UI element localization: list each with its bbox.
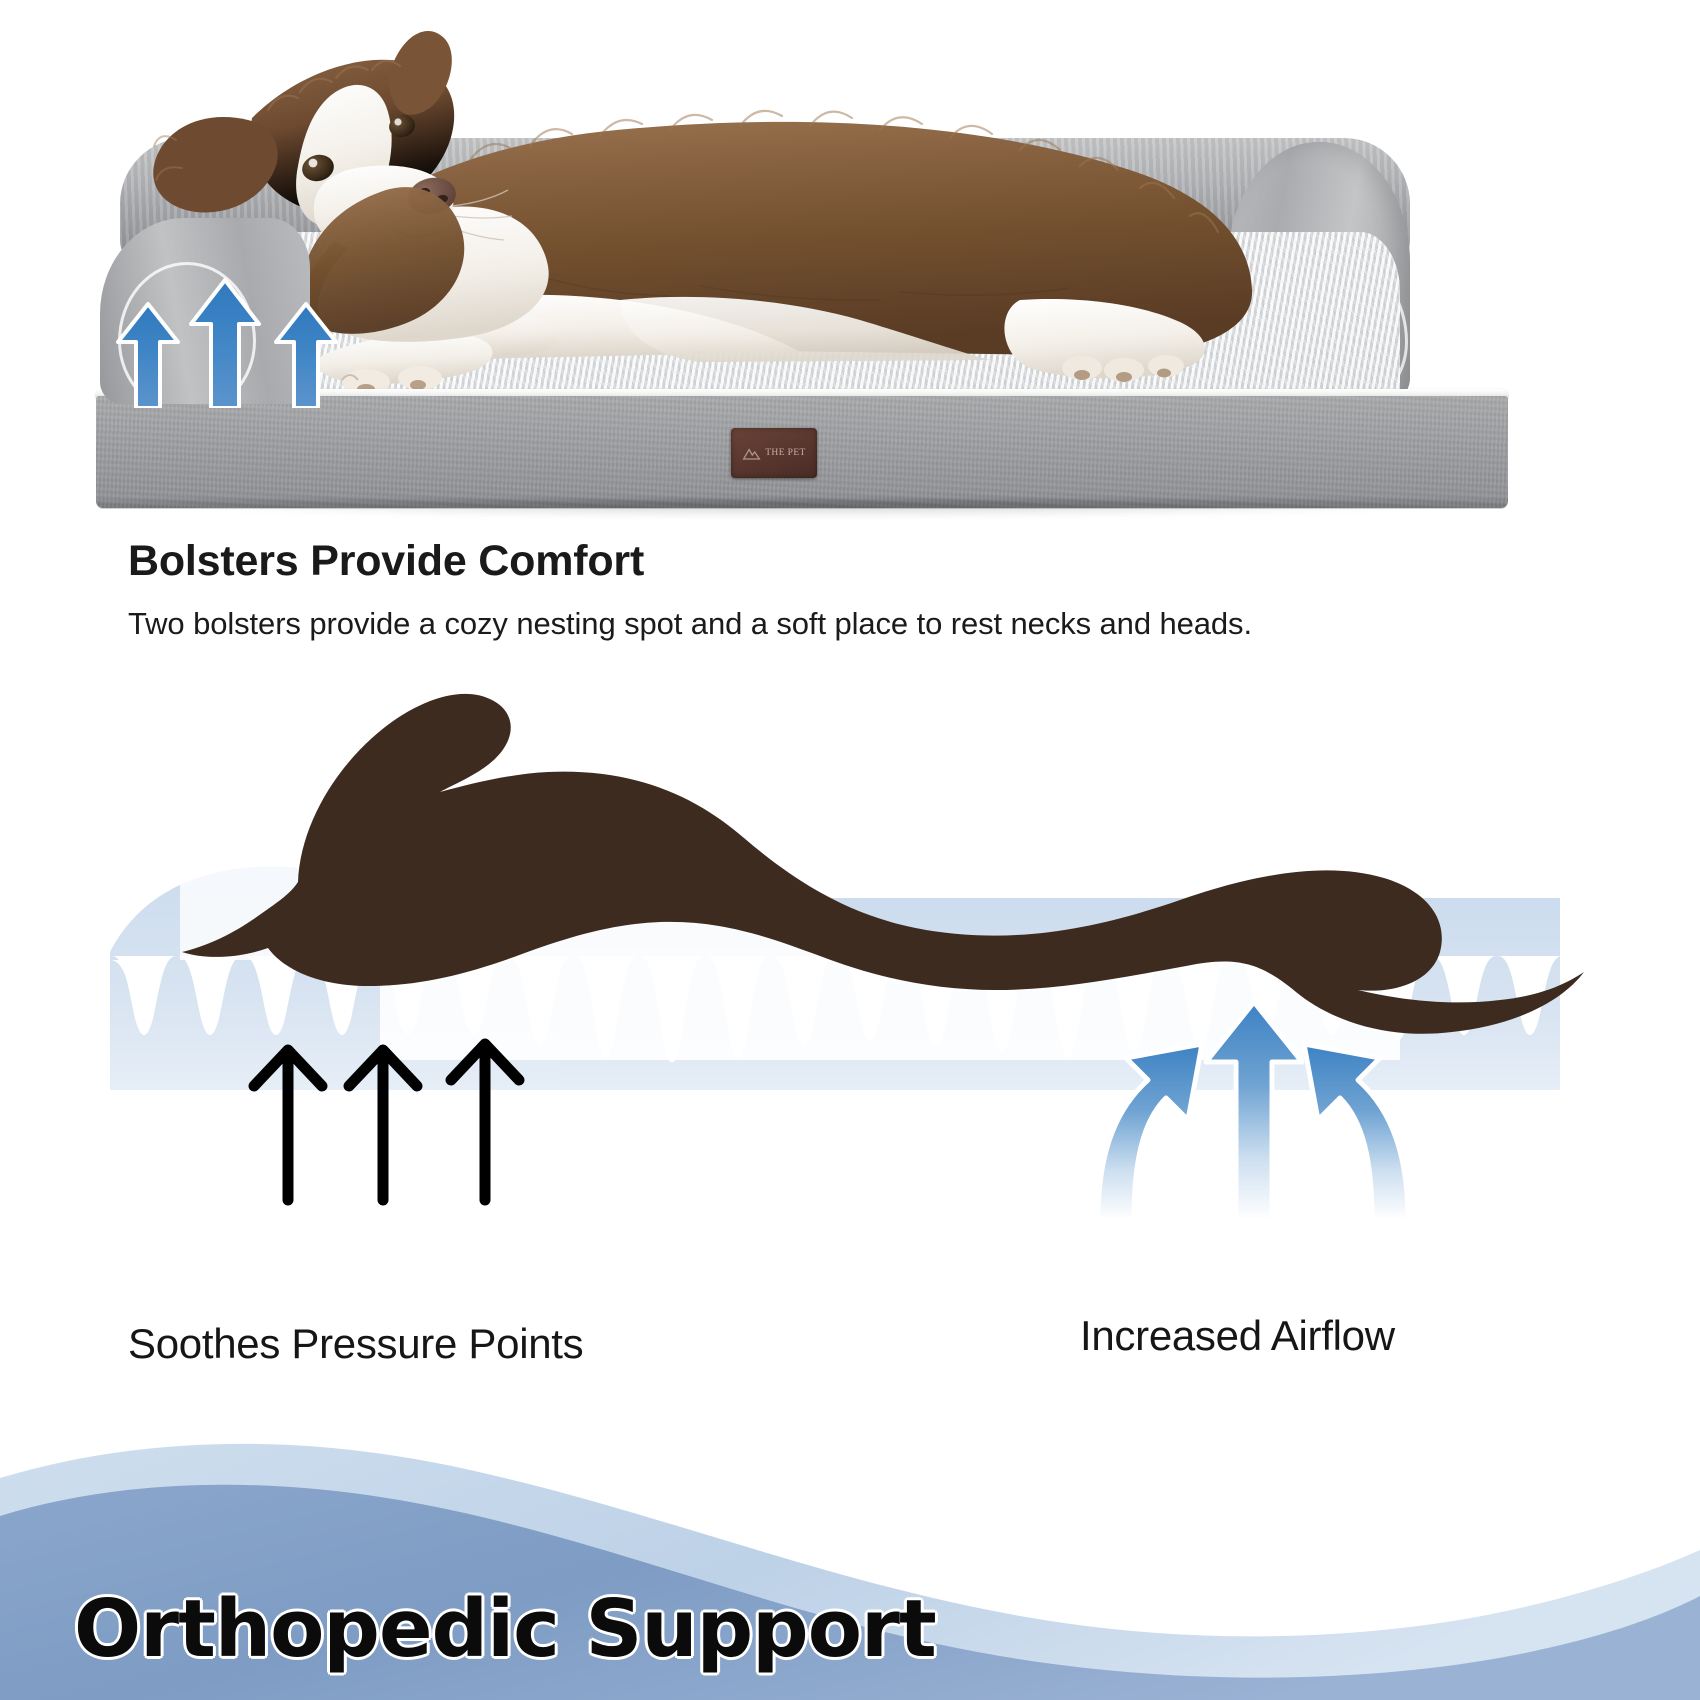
brand-leather-tag: THE PET [731, 428, 817, 478]
photo-airflow-arrows [108, 276, 338, 408]
mountain-logo-icon [742, 444, 761, 463]
section-subtitle: Two bolsters provide a cozy nesting spot… [128, 606, 1252, 642]
dog-eye-left-glint [309, 159, 318, 168]
dog-left-ear [153, 117, 277, 212]
pressure-arrow-1 [254, 1050, 322, 1200]
pressure-arrow-3 [451, 1044, 519, 1200]
banner-title: Orthopedic Support [74, 1583, 936, 1675]
headings-block: Bolsters Provide Comfort Two bolsters pr… [0, 520, 1700, 660]
caption-airflow: Increased Airflow [1080, 1312, 1395, 1360]
product-photo-panel: THE PET [0, 0, 1700, 520]
bottom-banner: Orthopedic Support [0, 1430, 1700, 1700]
infographic-page: THE PET Bolsters Provide Comfort Two bol… [0, 0, 1700, 1700]
pressure-arrow-2 [349, 1050, 417, 1200]
dog-rear-paws [1062, 355, 1184, 382]
photo-arrow-2 [191, 280, 259, 408]
dog-eye-right-glint [394, 118, 401, 125]
bed-ground-shadow [110, 500, 1500, 518]
photo-arrow-3 [276, 304, 336, 408]
caption-pressure-points: Soothes Pressure Points [128, 1320, 583, 1368]
foam-diagram: Soothes Pressure Points Increased Airflo… [0, 660, 1700, 1440]
brand-tag-text: THE PET [765, 448, 806, 458]
section-title: Bolsters Provide Comfort [128, 537, 644, 586]
photo-arrow-1 [118, 304, 178, 408]
